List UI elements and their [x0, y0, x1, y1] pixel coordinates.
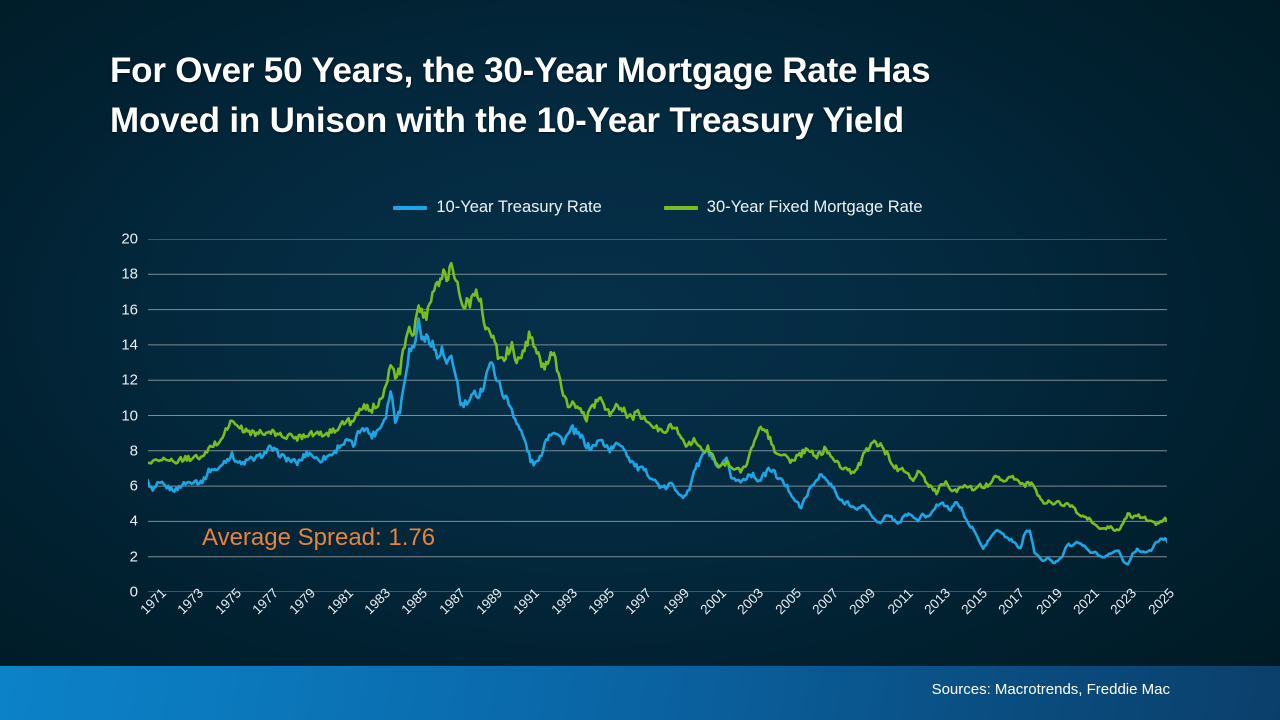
y-axis-tick-label: 10 — [121, 407, 138, 424]
y-axis-tick-label: 0 — [130, 584, 138, 601]
slide-canvas: For Over 50 Years, the 30-Year Mortgage … — [0, 0, 1280, 720]
legend-label: 10-Year Treasury Rate — [436, 198, 601, 217]
y-axis-tick-label: 12 — [121, 372, 138, 389]
y-axis-labels: 02468101214161820 — [96, 239, 138, 592]
y-axis-tick-label: 8 — [130, 442, 138, 459]
title-line-2: Moved in Unison with the 10-Year Treasur… — [110, 96, 1160, 146]
footer-band: Sources: Macrotrends, Freddie Mac — [0, 666, 1280, 720]
legend-item-2[interactable]: 30-Year Fixed Mortgage Rate — [664, 198, 923, 217]
y-axis-tick-label: 16 — [121, 301, 138, 318]
sources-text: Sources: Macrotrends, Freddie Mac — [932, 681, 1170, 698]
title-line-1: For Over 50 Years, the 30-Year Mortgage … — [110, 46, 1160, 96]
legend-label: 30-Year Fixed Mortgage Rate — [707, 198, 923, 217]
legend-swatch-icon — [393, 206, 427, 210]
chart-legend: 10-Year Treasury Rate30-Year Fixed Mortg… — [148, 198, 1168, 217]
y-axis-tick-label: 14 — [121, 336, 138, 353]
y-axis-tick-label: 4 — [130, 513, 138, 530]
legend-swatch-icon — [664, 206, 698, 210]
average-spread-annotation: Average Spread: 1.76 — [202, 524, 435, 552]
y-axis-tick-label: 2 — [130, 548, 138, 565]
y-axis-tick-label: 6 — [130, 478, 138, 495]
y-axis-tick-label: 18 — [121, 266, 138, 283]
legend-item-1[interactable]: 10-Year Treasury Rate — [393, 198, 601, 217]
x-axis-labels: 1971197319751977197919811983198519871989… — [148, 596, 1167, 656]
y-axis-tick-label: 20 — [121, 231, 138, 248]
page-title: For Over 50 Years, the 30-Year Mortgage … — [110, 46, 1160, 146]
chart-line-series — [148, 263, 1167, 543]
